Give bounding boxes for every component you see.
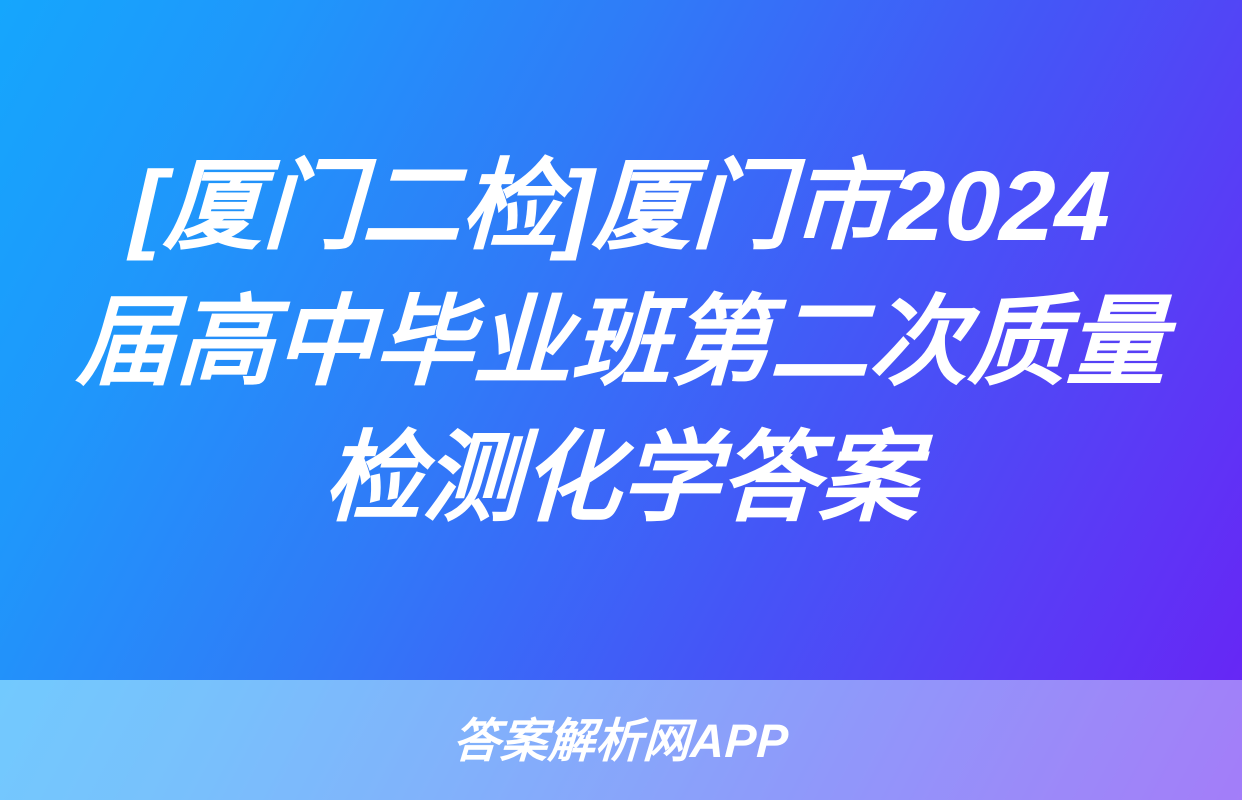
title-line-1: [厦门二检]厦门市2024 xyxy=(129,138,1113,274)
app-watermark-label: 答案解析网APP xyxy=(452,717,790,764)
title-line-2: 届高中毕业班第二次质量 xyxy=(74,274,1168,410)
hero-gradient-panel: [厦门二检]厦门市2024 届高中毕业班第二次质量 检测化学答案 xyxy=(0,0,1242,680)
poster-card: [厦门二检]厦门市2024 届高中毕业班第二次质量 检测化学答案 答案解析网AP… xyxy=(0,0,1242,800)
title-line-3: 检测化学答案 xyxy=(322,410,921,546)
footer-watermark-band: 答案解析网APP xyxy=(0,680,1242,800)
title-block: [厦门二检]厦门市2024 届高中毕业班第二次质量 检测化学答案 xyxy=(71,134,1171,546)
